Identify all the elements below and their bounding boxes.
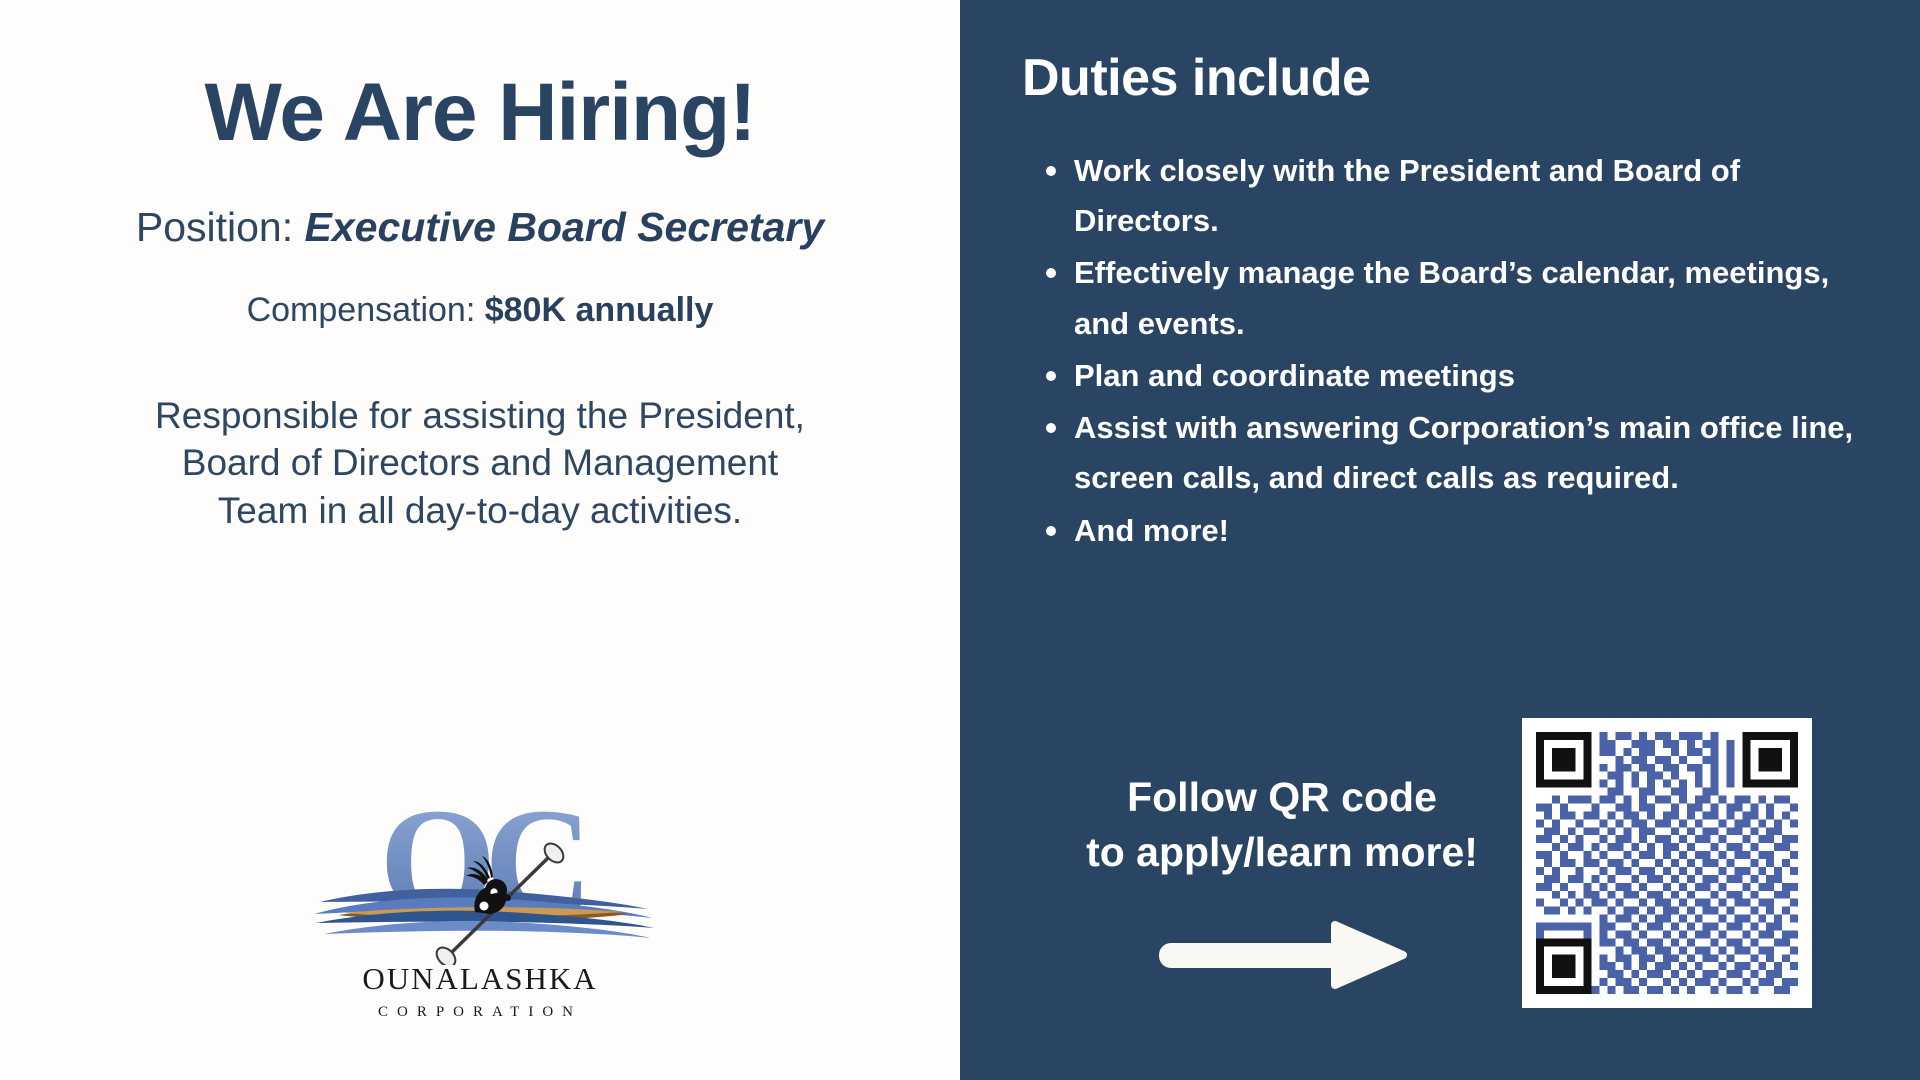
- kayaker-wave-icon: [300, 810, 660, 965]
- right-arrow-icon: [1157, 919, 1407, 991]
- logo-mark: OC: [300, 790, 660, 965]
- logo-company-subtitle: CORPORATION: [300, 1004, 660, 1021]
- compensation-label: Compensation:: [247, 291, 485, 329]
- qr-cta-block: Follow QR code to apply/learn more!: [1022, 770, 1542, 991]
- duty-item: Plan and coordinate meetings: [1022, 351, 1860, 401]
- duty-item: Assist with answering Corporation’s main…: [1022, 403, 1860, 503]
- position-line: Position: Executive Board Secretary: [136, 204, 824, 251]
- position-label: Position:: [136, 204, 305, 250]
- duties-list: Work closely with the President and Boar…: [1022, 146, 1860, 556]
- duty-item: Effectively manage the Board’s calendar,…: [1022, 248, 1860, 348]
- logo-company-name: OUNALASHKA: [300, 961, 660, 997]
- company-logo: OC: [300, 790, 660, 1030]
- arrow-wrap: [1022, 919, 1542, 991]
- compensation-value: $80K annually: [485, 291, 714, 329]
- compensation-line: Compensation: $80K annually: [247, 291, 714, 330]
- right-panel: Duties include Work closely with the Pre…: [960, 0, 1920, 1080]
- duties-title: Duties include: [1022, 48, 1860, 108]
- duty-item: And more!: [1022, 506, 1860, 556]
- left-panel: We Are Hiring! Position: Executive Board…: [0, 0, 960, 1080]
- qr-code-icon[interactable]: [1536, 732, 1798, 994]
- page-title: We Are Hiring!: [205, 70, 756, 156]
- hiring-poster: We Are Hiring! Position: Executive Board…: [0, 0, 1920, 1080]
- cta-line-1: Follow QR code: [1022, 770, 1542, 825]
- job-description: Responsible for assisting the President,…: [140, 392, 820, 534]
- cta-line-2: to apply/learn more!: [1022, 825, 1542, 880]
- position-value: Executive Board Secretary: [305, 204, 825, 250]
- qr-code[interactable]: [1522, 718, 1812, 1008]
- duty-item: Work closely with the President and Boar…: [1022, 146, 1860, 246]
